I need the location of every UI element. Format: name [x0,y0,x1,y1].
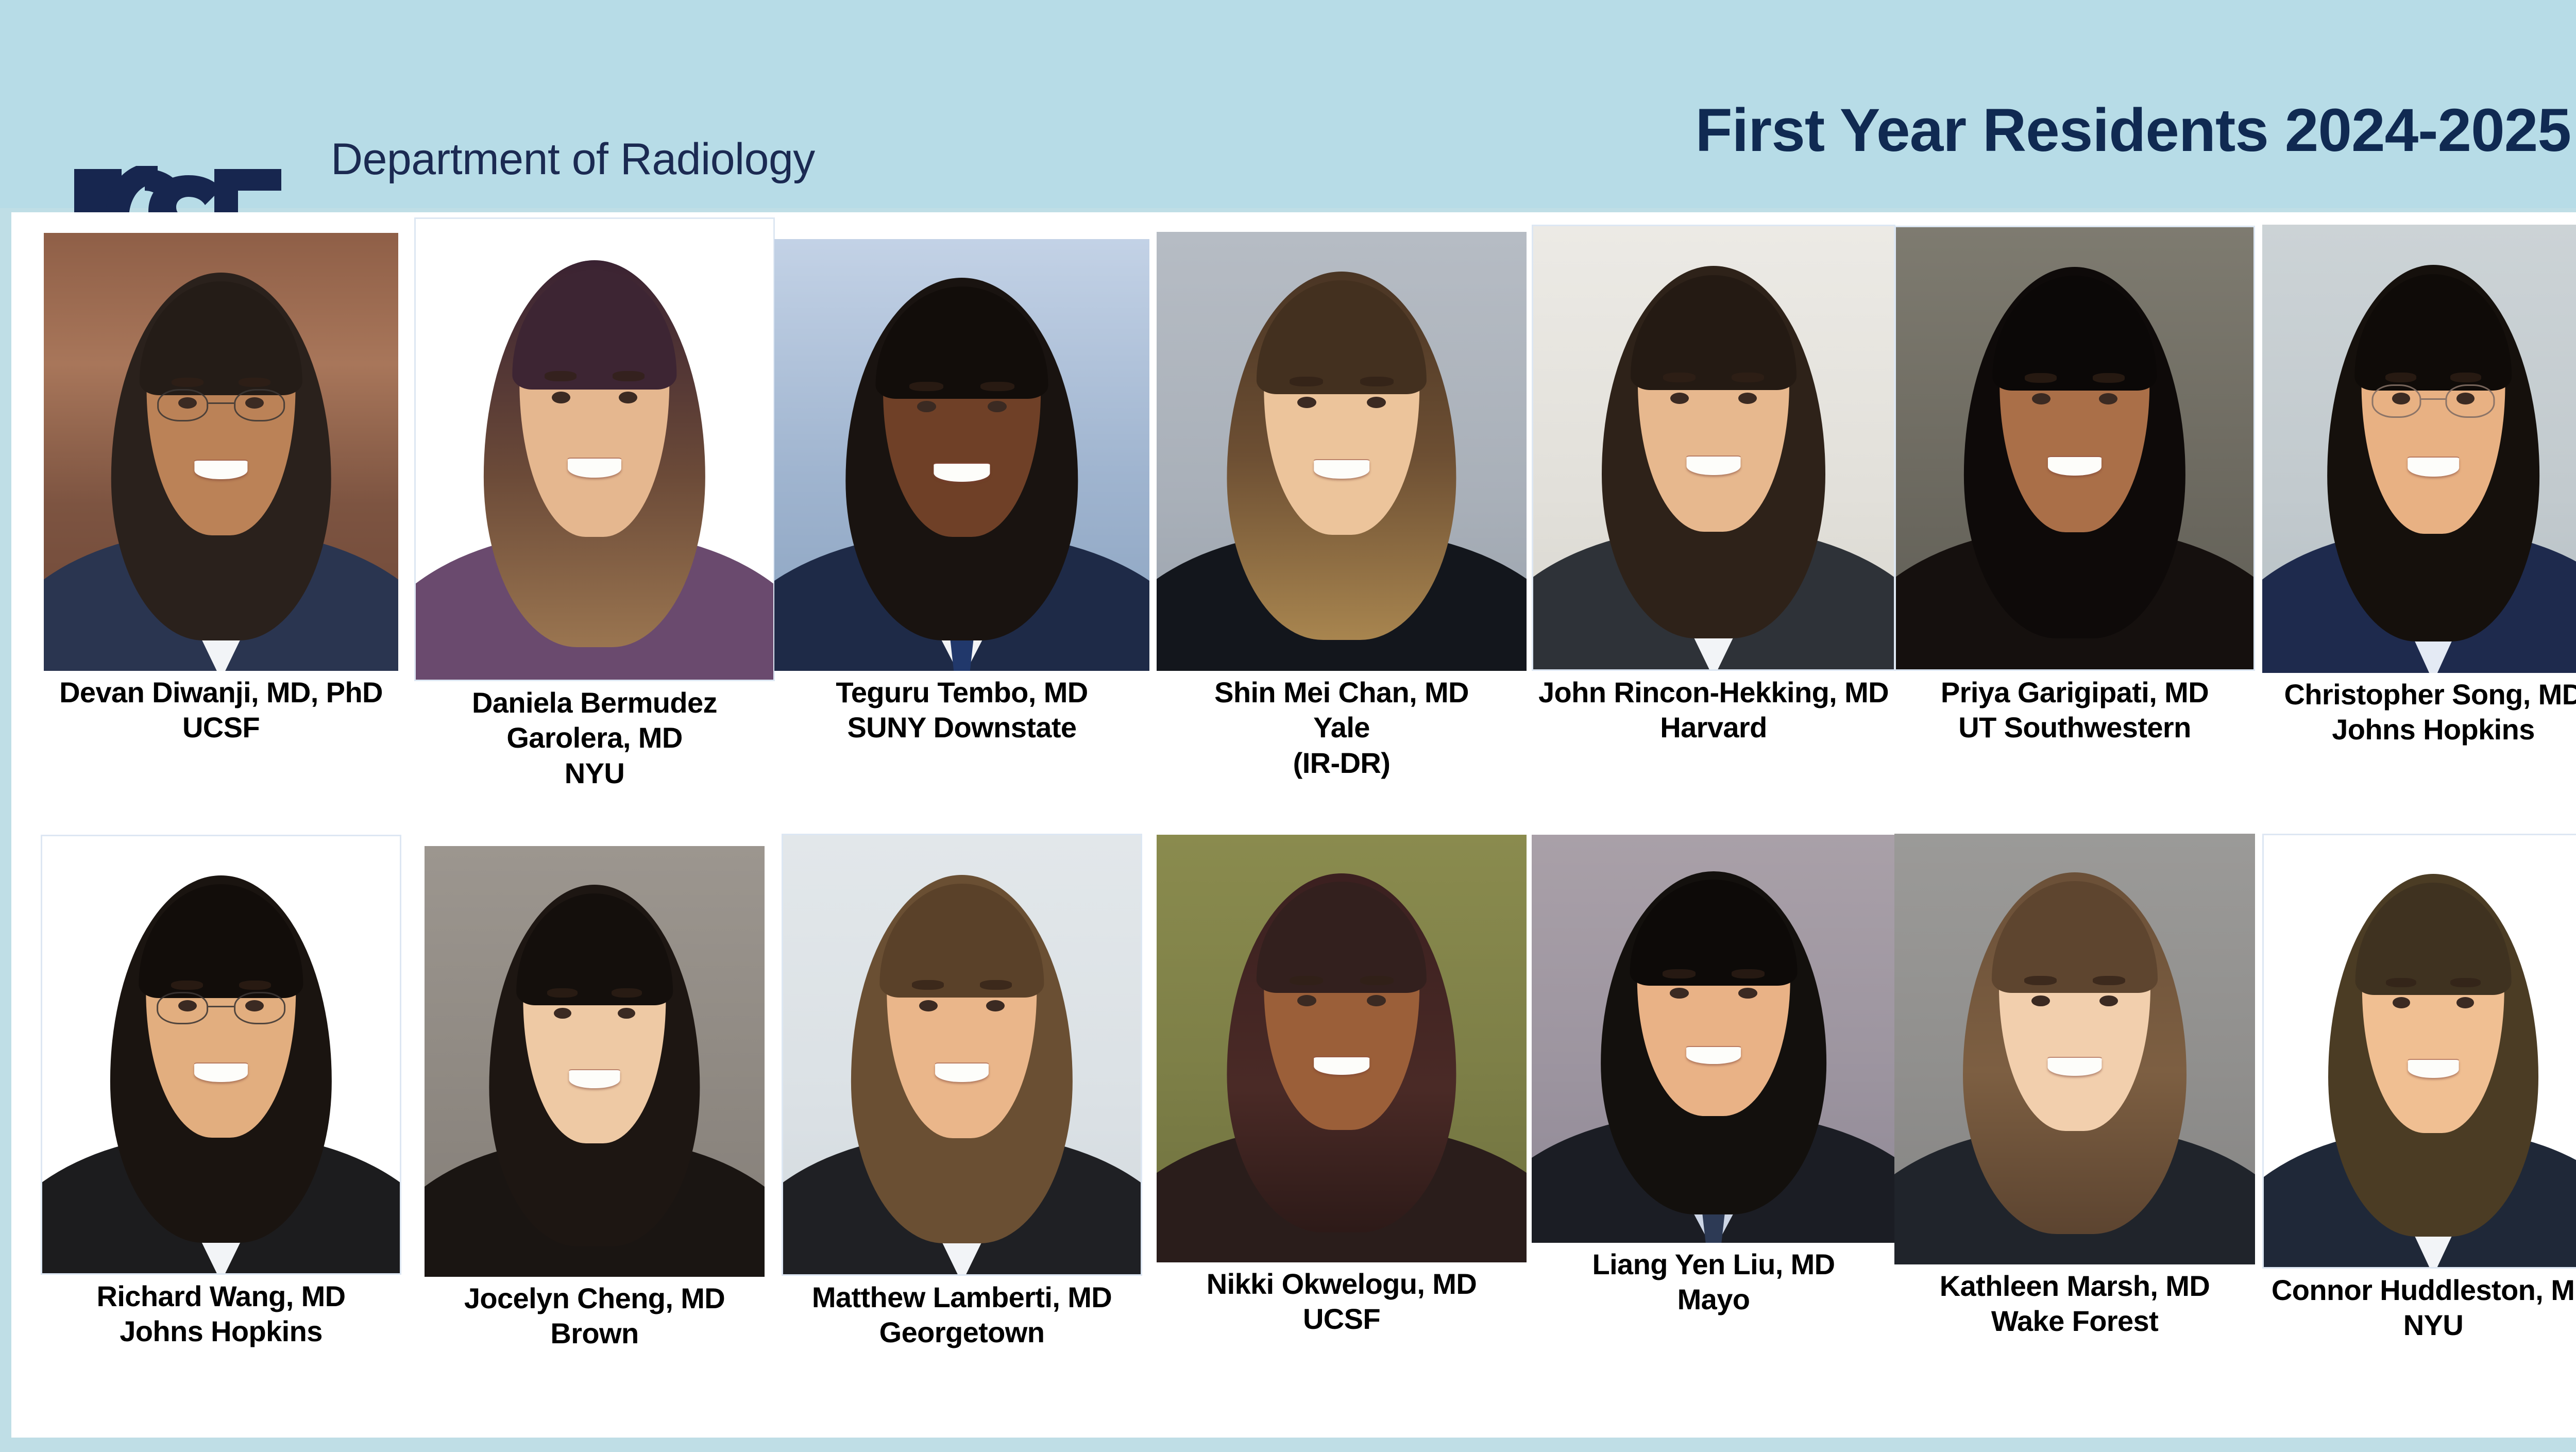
resident-card[interactable]: Priya Garigipati, MD UT Southwestern [1894,212,2256,746]
resident-extra: NYU [414,756,775,791]
resident-school: Yale [1156,710,1527,745]
resident-row: Devan Diwanji, MD, PhD UCSF [11,212,2576,825]
resident-poster: Department of Radiology and Biomedical I… [0,0,2576,1452]
resident-card[interactable]: Christopher Song, MD Johns Hopkins [2256,212,2576,748]
resident-photo [41,835,401,1275]
resident-school: Georgetown [774,1315,1150,1350]
resident-card[interactable]: Devan Diwanji, MD, PhD UCSF [38,212,404,746]
resident-caption: Priya Garigipati, MD UT Southwestern [1894,675,2256,746]
resident-school: NYU [2256,1308,2576,1343]
resident-photo [774,239,1149,671]
resident-name: Matthew Lamberti, MD [774,1280,1150,1315]
resident-photo [1157,232,1527,671]
resident-caption: Shin Mei Chan, MD Yale (IR-DR) [1156,675,1527,781]
resident-caption: Jocelyn Cheng, MD Brown [414,1281,775,1352]
resident-caption: John Rincon-Hekking, MD Harvard [1531,675,1896,746]
resident-school: Wake Forest [1894,1304,2256,1339]
residents-grid: Devan Diwanji, MD, PhD UCSF [11,212,2576,1438]
resident-name: Devan Diwanji, MD, PhD [38,675,404,710]
resident-name: Connor Huddleston, MD [2256,1273,2576,1308]
resident-caption: Nikki Okwelogu, MD UCSF [1156,1267,1527,1337]
resident-card[interactable]: Shin Mei Chan, MD Yale (IR-DR) [1156,212,1527,781]
resident-name: Richard Wang, MD [38,1279,404,1314]
resident-card[interactable]: Teguru Tembo, MD SUNY Downstate [774,212,1150,746]
resident-name: Nikki Okwelogu, MD [1156,1267,1527,1302]
resident-school: UCSF [38,710,404,745]
resident-card[interactable]: John Rincon-Hekking, MD Harvard [1531,212,1896,746]
resident-school: Johns Hopkins [2256,712,2576,747]
resident-name: Christopher Song, MD [2256,677,2576,712]
resident-card[interactable]: Matthew Lamberti, MD Georgetown [774,830,1150,1350]
resident-school: SUNY Downstate [774,710,1150,745]
page-title: First Year Residents 2024-2025 [1695,95,2571,165]
resident-card[interactable]: Daniela Bermudez Garolera, MD NYU [414,212,775,791]
resident-caption: Daniela Bermudez Garolera, MD NYU [414,685,775,791]
resident-card[interactable]: Jocelyn Cheng, MD Brown [414,830,775,1352]
resident-name: Priya Garigipati, MD [1894,675,2256,710]
resident-photo [425,846,765,1277]
poster-header: Department of Radiology and Biomedical I… [0,0,2576,208]
resident-card[interactable]: Richard Wang, MD Johns Hopkins [38,830,404,1349]
resident-school: Mayo [1531,1282,1896,1317]
resident-name: Kathleen Marsh, MD [1894,1269,2256,1304]
resident-school: Johns Hopkins [38,1314,404,1349]
resident-card[interactable]: Kathleen Marsh, MD Wake Forest [1894,830,2256,1339]
resident-photo [1532,835,1895,1243]
department-line-1: Department of Radiology [331,136,815,183]
resident-card[interactable]: Connor Huddleston, MD NYU [2256,830,2576,1343]
resident-school: UCSF [1156,1302,1527,1337]
resident-photo [1894,226,2255,671]
resident-caption: Matthew Lamberti, MD Georgetown [774,1280,1150,1350]
resident-name: Daniela Bermudez [414,685,775,720]
resident-caption: Richard Wang, MD Johns Hopkins [38,1279,404,1349]
resident-photo [2262,834,2576,1269]
resident-name: Shin Mei Chan, MD [1156,675,1527,710]
resident-photo [414,217,775,681]
resident-photo [1894,834,2255,1264]
resident-photo [1532,225,1895,671]
resident-school: Harvard [1531,710,1896,745]
resident-caption: Kathleen Marsh, MD Wake Forest [1894,1269,2256,1339]
eyeglasses-icon [157,389,285,422]
resident-caption: Connor Huddleston, MD NYU [2256,1273,2576,1343]
resident-school: Garolera, MD [414,720,775,755]
resident-caption: Liang Yen Liu, MD Mayo [1531,1247,1896,1318]
resident-extra: (IR-DR) [1156,746,1527,781]
resident-photo [1157,835,1527,1262]
resident-name: John Rincon-Hekking, MD [1531,675,1896,710]
resident-photo [44,233,398,671]
resident-photo [782,834,1142,1276]
resident-name: Jocelyn Cheng, MD [414,1281,775,1316]
resident-name: Liang Yen Liu, MD [1531,1247,1896,1282]
eyeglasses-icon [2371,384,2495,418]
resident-caption: Devan Diwanji, MD, PhD UCSF [38,675,404,746]
eyeglasses-icon [157,992,285,1025]
resident-card[interactable]: Nikki Okwelogu, MD UCSF [1156,830,1527,1337]
resident-card[interactable]: Liang Yen Liu, MD Mayo [1531,830,1896,1318]
resident-photo [2262,225,2576,673]
resident-caption: Teguru Tembo, MD SUNY Downstate [774,675,1150,746]
resident-row: Richard Wang, MD Johns Hopkins [11,830,2576,1438]
resident-school: Brown [414,1316,775,1351]
resident-name: Teguru Tembo, MD [774,675,1150,710]
resident-caption: Christopher Song, MD Johns Hopkins [2256,677,2576,748]
resident-school: UT Southwestern [1894,710,2256,745]
